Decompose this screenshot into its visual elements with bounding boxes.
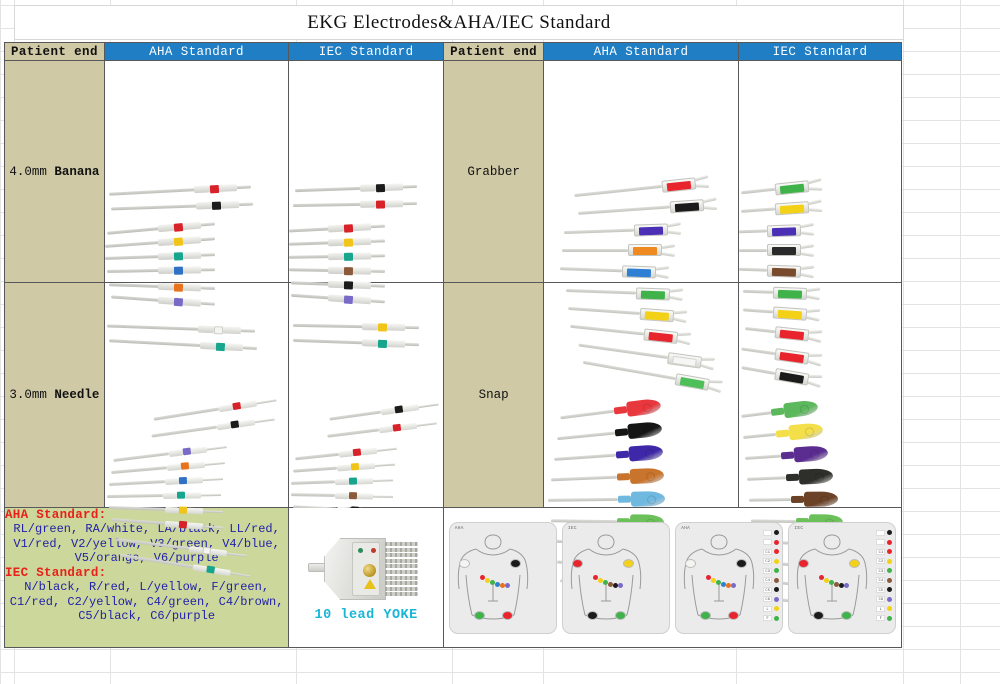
- snap-electrode-body: [788, 422, 823, 440]
- connector-pin-dot: [774, 530, 779, 535]
- banana-pin: [241, 329, 255, 332]
- lead-wire: [105, 255, 159, 260]
- connector-pin-dot: [887, 559, 892, 564]
- grabber-color-label: [627, 267, 651, 276]
- lead-barrel: [385, 200, 403, 207]
- banana-lead: [289, 265, 385, 276]
- connector-pin-rail: C1C2C3C4C5C6LF: [757, 529, 779, 629]
- needle-tip: [230, 572, 250, 577]
- lead-boot: [379, 425, 394, 433]
- lead-boot: [328, 238, 344, 246]
- lead-wire: [291, 493, 335, 497]
- lead-boot: [165, 478, 179, 485]
- lead-wire: [739, 267, 767, 271]
- grabber-body: [774, 179, 809, 194]
- lead-wire: [291, 480, 335, 485]
- lead-wire: [743, 289, 773, 293]
- lead-boot: [192, 564, 207, 572]
- lead-barrel: [353, 281, 371, 289]
- connector-pin-label: C4: [763, 577, 772, 583]
- lead-boot: [362, 323, 378, 330]
- lead-wire: [578, 205, 670, 214]
- grabber-lead: [739, 222, 814, 238]
- connector-pin-label: L: [876, 606, 885, 612]
- lead-boot: [158, 296, 174, 304]
- grabber-jaw: [656, 266, 669, 277]
- snap-electrode-body: [793, 445, 828, 462]
- lead-boot: [165, 520, 179, 527]
- lead-wire: [111, 518, 165, 525]
- lead-color-band: [173, 297, 183, 306]
- lead-barrel: [225, 343, 243, 351]
- lead-wire: [111, 466, 167, 474]
- connector-pin-dot: [774, 540, 779, 545]
- table-header-row: Patient end AHA Standard IEC Standard Pa…: [5, 43, 902, 61]
- lead-barrel: [183, 266, 201, 273]
- grabber-lead: [564, 221, 681, 238]
- banana-pin: [243, 346, 257, 350]
- limb-electrode-left-leg: [728, 611, 739, 620]
- limb-electrode-left-arm: [623, 559, 634, 568]
- grabber-color-label: [780, 329, 805, 339]
- banana-lead: [289, 236, 385, 248]
- lead-boot: [362, 339, 378, 347]
- header-aha-right: AHA Standard: [544, 43, 739, 61]
- cell-placement-diagrams: AHAIECAHAC1C2C3C4C5C6LFIECC1C2C3C4C5C6LF: [444, 508, 902, 648]
- lead-wire: [562, 249, 628, 252]
- snap-strain-relief: [614, 405, 628, 414]
- yoke-pin: [382, 559, 418, 563]
- banana-pin: [403, 184, 417, 187]
- lead-boot: [158, 238, 174, 246]
- chest-electrode: [618, 583, 623, 588]
- row-label-needle-size: 3.0mm: [9, 388, 54, 402]
- warning-triangle-icon: [364, 579, 376, 589]
- needle-tip: [205, 462, 225, 466]
- legend-iec-line-3: C5/black, C6/purple: [5, 609, 288, 624]
- lead-boot: [188, 545, 203, 553]
- connector-pin-dot: [887, 578, 892, 583]
- chest-electrode: [731, 583, 736, 588]
- lead-barrel: [210, 548, 227, 556]
- yoke-pin-array: [382, 540, 422, 598]
- connector-pin-label: C2: [876, 558, 885, 564]
- lead-wire: [105, 241, 159, 248]
- chest-electrode: [844, 583, 849, 588]
- lead-barrel: [353, 237, 371, 245]
- lead-wire: [289, 227, 329, 232]
- lead-barrel: [183, 283, 201, 291]
- cell-aha-banana: [104, 61, 288, 283]
- connector-pin-label: [763, 539, 772, 545]
- sheet-gridline-row: [0, 649, 1000, 650]
- needle-tip: [254, 418, 274, 423]
- lead-wire: [151, 425, 217, 437]
- row-label-snap: Snap: [444, 283, 544, 508]
- page-title-cell: EKG Electrodes&AHA/IEC Standard: [14, 5, 904, 40]
- grabber-body: [661, 176, 696, 191]
- grabber-color-label: [645, 310, 669, 320]
- needle-lead: [291, 490, 393, 501]
- needle-lead: [107, 490, 221, 501]
- lead-wire: [570, 324, 644, 335]
- lead-wire: [739, 229, 767, 233]
- connector-pin-label: F: [876, 615, 885, 621]
- lead-wire: [745, 326, 775, 332]
- connector-pin-row: [757, 538, 779, 546]
- chest-electrode: [490, 580, 495, 585]
- lead-color-band: [378, 322, 387, 330]
- yoke-label: 10 lead YOKE: [289, 608, 443, 623]
- lead-boot: [158, 252, 174, 260]
- limb-electrode-right-arm: [798, 559, 809, 568]
- banana-pin: [403, 201, 417, 204]
- lead-boot: [167, 463, 181, 470]
- page-title: EKG Electrodes&AHA/IEC Standard: [307, 12, 611, 34]
- connector-pin-row: C1: [870, 548, 892, 556]
- lead-wire: [745, 454, 781, 460]
- grabber-color-label: [779, 351, 804, 362]
- connector-pin-row: C3: [870, 567, 892, 575]
- connector-pin-row: L: [870, 605, 892, 613]
- cell-iec-needle: [289, 283, 444, 508]
- lead-barrel: [187, 477, 203, 484]
- snap-electrode-body: [799, 468, 834, 484]
- snap-strain-relief: [791, 495, 804, 502]
- connector-pin-row: C4: [757, 576, 779, 584]
- limb-electrode-right-leg: [474, 611, 485, 620]
- grabber-color-label: [641, 290, 665, 299]
- lead-wire: [289, 255, 329, 259]
- limb-electrode-left-leg: [841, 611, 852, 620]
- connector-pin-row: C2: [870, 557, 892, 565]
- lead-wire: [554, 453, 616, 460]
- lead-color-band: [179, 506, 187, 513]
- connector-pin-row: [757, 529, 779, 537]
- lead-wire: [291, 293, 329, 299]
- lead-barrel: [182, 221, 201, 230]
- lead-wire: [739, 249, 767, 252]
- grabber-body: [767, 223, 801, 236]
- lead-barrel: [385, 183, 403, 191]
- connector-pin-dot: [774, 616, 779, 621]
- grabber-jaw: [809, 200, 823, 212]
- lead-barrel: [190, 446, 207, 454]
- grabber-color-label: [778, 309, 802, 319]
- lead-wire: [109, 283, 159, 288]
- banana-pin: [201, 237, 215, 241]
- banana-lead: [109, 182, 251, 198]
- banana-pin: [201, 222, 215, 226]
- lead-barrel: [221, 201, 239, 209]
- connector-pin-dot: [887, 549, 892, 554]
- banana-lead: [105, 250, 215, 263]
- grabber-jaw: [674, 310, 688, 322]
- needle-tip: [377, 447, 397, 451]
- grabber-jaw: [808, 178, 822, 190]
- grabber-jaw: [668, 222, 681, 233]
- grabber-body: [774, 325, 809, 340]
- grabber-body: [767, 264, 801, 277]
- banana-pin: [371, 284, 385, 287]
- lead-barrel: [387, 323, 405, 330]
- connector-pin-dot: [887, 568, 892, 573]
- grabber-body: [643, 327, 678, 342]
- grabber-color-label: [648, 331, 673, 341]
- needle-tip: [203, 525, 223, 528]
- limb-electrode-right-leg: [587, 611, 598, 620]
- lead-color-band: [344, 252, 353, 260]
- lead-color-band: [212, 201, 221, 209]
- lead-wire: [551, 475, 617, 481]
- lead-boot: [158, 223, 175, 231]
- banana-lead: [111, 199, 253, 213]
- lead-wire: [109, 339, 201, 347]
- connector-pin-label: [876, 530, 885, 536]
- connector-pin-label: C1: [763, 549, 772, 555]
- lead-boot: [335, 478, 349, 484]
- lead-wire: [109, 506, 165, 511]
- grabber-lead: [562, 244, 675, 257]
- banana-lead: [293, 320, 419, 331]
- needle-tip: [203, 510, 223, 513]
- connector-pin-dot: [774, 578, 779, 583]
- yoke-pin: [382, 548, 418, 552]
- grabber-color-label: [772, 267, 796, 276]
- needle-lead: [109, 474, 223, 489]
- grabber-color-label: [780, 183, 805, 193]
- lead-barrel: [403, 404, 420, 412]
- banana-pin: [371, 269, 385, 272]
- lead-barrel: [357, 493, 373, 499]
- connector-pin-dot: [887, 616, 892, 621]
- lead-wire: [560, 267, 622, 272]
- needle-tip: [417, 422, 437, 426]
- lead-wire: [293, 323, 363, 327]
- lead-wire: [330, 410, 382, 420]
- lead-barrel: [183, 251, 201, 259]
- lead-boot: [328, 224, 344, 232]
- limb-electrode-left-leg: [502, 611, 513, 620]
- lead-boot: [163, 492, 177, 498]
- grabber-jaw: [701, 356, 715, 369]
- placement-diagram: IEC: [562, 522, 670, 634]
- lead-wire: [548, 497, 618, 501]
- lead-barrel: [387, 340, 405, 348]
- connector-pin-row: C2: [757, 557, 779, 565]
- grabber-color-label: [667, 180, 692, 190]
- legend-iec-line-1: N/black, R/red, L/yellow, F/green,: [5, 580, 288, 595]
- snap-strain-relief: [781, 451, 794, 459]
- lead-barrel: [183, 298, 201, 306]
- grabber-jaw: [801, 245, 814, 256]
- snap-lead: [747, 467, 834, 487]
- connector-pin-label: C2: [763, 558, 772, 564]
- connector-pin-label: C1: [876, 549, 885, 555]
- chest-electrode: [485, 578, 490, 583]
- connector-pin-row: C6: [757, 595, 779, 603]
- lead-wire: [153, 407, 219, 420]
- header-patient-end-left: Patient end: [5, 43, 105, 61]
- banana-pin: [201, 253, 215, 256]
- connector-pin-dot: [774, 568, 779, 573]
- snap-strain-relief: [776, 429, 790, 437]
- lead-wire: [741, 411, 771, 418]
- grabber-color-label: [639, 226, 663, 235]
- placement-diagram: AHAC1C2C3C4C5C6LF: [675, 522, 783, 634]
- grabber-jaw: [808, 352, 822, 365]
- grabber-jaw: [807, 308, 821, 320]
- grabber-body: [775, 200, 810, 214]
- connector-pin-dot: [774, 559, 779, 564]
- grabber-body: [622, 264, 656, 277]
- lead-boot: [216, 422, 231, 430]
- lead-wire: [109, 188, 195, 195]
- lead-barrel: [361, 447, 378, 455]
- lead-boot: [381, 407, 396, 415]
- snap-lead: [749, 490, 838, 507]
- lead-boot: [158, 266, 174, 273]
- connector-pin-row: C1: [757, 548, 779, 556]
- needle-tip: [419, 403, 439, 408]
- grabber-color-label: [675, 201, 699, 211]
- row-label-banana-size: 4.0mm: [9, 165, 54, 179]
- lead-wire: [560, 409, 614, 419]
- grabber-lead: [743, 284, 820, 300]
- grabber-jaw: [708, 379, 723, 392]
- grabber-jaw: [677, 331, 691, 343]
- connector-pin-dot: [774, 587, 779, 592]
- lead-color-band: [344, 266, 353, 274]
- grabber-jaw: [704, 198, 718, 210]
- grabber-body: [773, 286, 807, 299]
- lead-color-band: [216, 342, 225, 350]
- connector-pin-rail: C1C2C3C4C5C6LF: [870, 529, 892, 629]
- lead-wire: [564, 228, 634, 233]
- connector-pin-row: [870, 529, 892, 537]
- snap-electrode-body: [628, 444, 663, 461]
- connector-pin-row: C5: [870, 586, 892, 594]
- lead-wire: [743, 432, 776, 438]
- lead-barrel: [353, 296, 371, 304]
- limb-electrode-left-arm: [736, 559, 747, 568]
- lead-barrel: [187, 522, 203, 529]
- header-aha-left: AHA Standard: [104, 43, 288, 61]
- limb-electrode-right-leg: [813, 611, 824, 620]
- lead-wire: [293, 338, 363, 343]
- connector-pin-row: F: [757, 614, 779, 622]
- connector-pin-label: [763, 530, 772, 536]
- yoke-pin: [382, 564, 418, 568]
- lead-color-band: [174, 266, 183, 274]
- snap-strain-relief: [618, 495, 631, 502]
- connector-pin-row: C6: [870, 595, 892, 603]
- lead-wire: [107, 227, 159, 235]
- lead-boot: [328, 280, 344, 288]
- lead-color-band: [210, 184, 219, 192]
- lead-boot: [200, 341, 216, 349]
- needle-tip: [201, 494, 221, 496]
- lead-barrel: [219, 184, 237, 192]
- needle-tip: [256, 399, 276, 404]
- spreadsheet-page: EKG Electrodes&AHA/IEC Standard Patient …: [0, 0, 1000, 684]
- grabber-jaw: [670, 288, 683, 299]
- connector-pin-label: C6: [876, 596, 885, 602]
- connector-pin-dot: [774, 597, 779, 602]
- grabber-body: [636, 286, 670, 299]
- lead-boot: [335, 492, 349, 498]
- lead-color-band: [173, 222, 183, 231]
- placement-diagram: AHA: [449, 522, 557, 634]
- lead-wire: [293, 466, 337, 472]
- grabber-body: [634, 222, 668, 235]
- grabber-lead: [739, 244, 814, 257]
- chest-electrode: [495, 582, 500, 587]
- yoke-pin: [382, 542, 418, 546]
- banana-lead: [289, 221, 385, 235]
- needle-tip: [373, 479, 393, 482]
- grabber-color-label: [778, 289, 802, 298]
- sheet-gridline-col: [0, 0, 1, 684]
- grabber-color-label: [780, 203, 804, 213]
- lead-barrel: [223, 326, 241, 334]
- snap-lead: [742, 421, 823, 445]
- lead-color-band: [173, 236, 183, 245]
- lead-boot: [337, 464, 351, 471]
- cell-yoke-connector: 10 lead YOKE: [289, 508, 444, 648]
- grabber-lead: [741, 199, 823, 218]
- cell-aha-needle: [104, 283, 288, 508]
- connector-pin-label: C3: [763, 568, 772, 574]
- lead-wire: [749, 498, 791, 502]
- banana-pin: [371, 224, 385, 228]
- grabber-color-label: [779, 371, 804, 383]
- lead-barrel: [185, 492, 201, 498]
- header-iec-right: IEC Standard: [739, 43, 902, 61]
- lead-barrel: [359, 462, 375, 469]
- lead-barrel: [240, 400, 257, 408]
- legend-iec-line-2: C1/red, C2/yellow, C4/green, C4/brown,: [5, 595, 288, 610]
- snap-strain-relief: [616, 450, 629, 458]
- lead-wire: [568, 306, 640, 314]
- row-label-banana: 4.0mm Banana: [5, 61, 105, 283]
- lead-wire: [741, 347, 775, 355]
- row-label-grabber: Grabber: [444, 61, 544, 283]
- needle-tip: [206, 446, 226, 450]
- connector-pin-dot: [887, 530, 892, 535]
- lead-wire: [113, 452, 169, 462]
- banana-pin: [201, 286, 215, 289]
- connector-pin-row: C4: [870, 576, 892, 584]
- needle-tip: [373, 495, 393, 497]
- row-label-banana-text: Banana: [54, 165, 99, 179]
- lead-wire: [327, 428, 379, 437]
- grabber-jaw: [695, 175, 709, 187]
- yoke-pin: [382, 570, 418, 574]
- limb-electrode-left-leg: [615, 611, 626, 620]
- snap-strain-relief: [615, 428, 629, 436]
- placement-diagram: IECC1C2C3C4C5C6LF: [788, 522, 896, 634]
- lead-barrel: [353, 223, 371, 231]
- grabber-color-label: [772, 247, 796, 255]
- banana-lead: [293, 198, 417, 209]
- connector-pin-row: [870, 538, 892, 546]
- needle-lead: [291, 475, 393, 488]
- banana-pin: [201, 268, 215, 271]
- header-patient-end-right: Patient end: [444, 43, 544, 61]
- grabber-color-label: [672, 355, 697, 366]
- snap-electrode-body: [627, 420, 662, 438]
